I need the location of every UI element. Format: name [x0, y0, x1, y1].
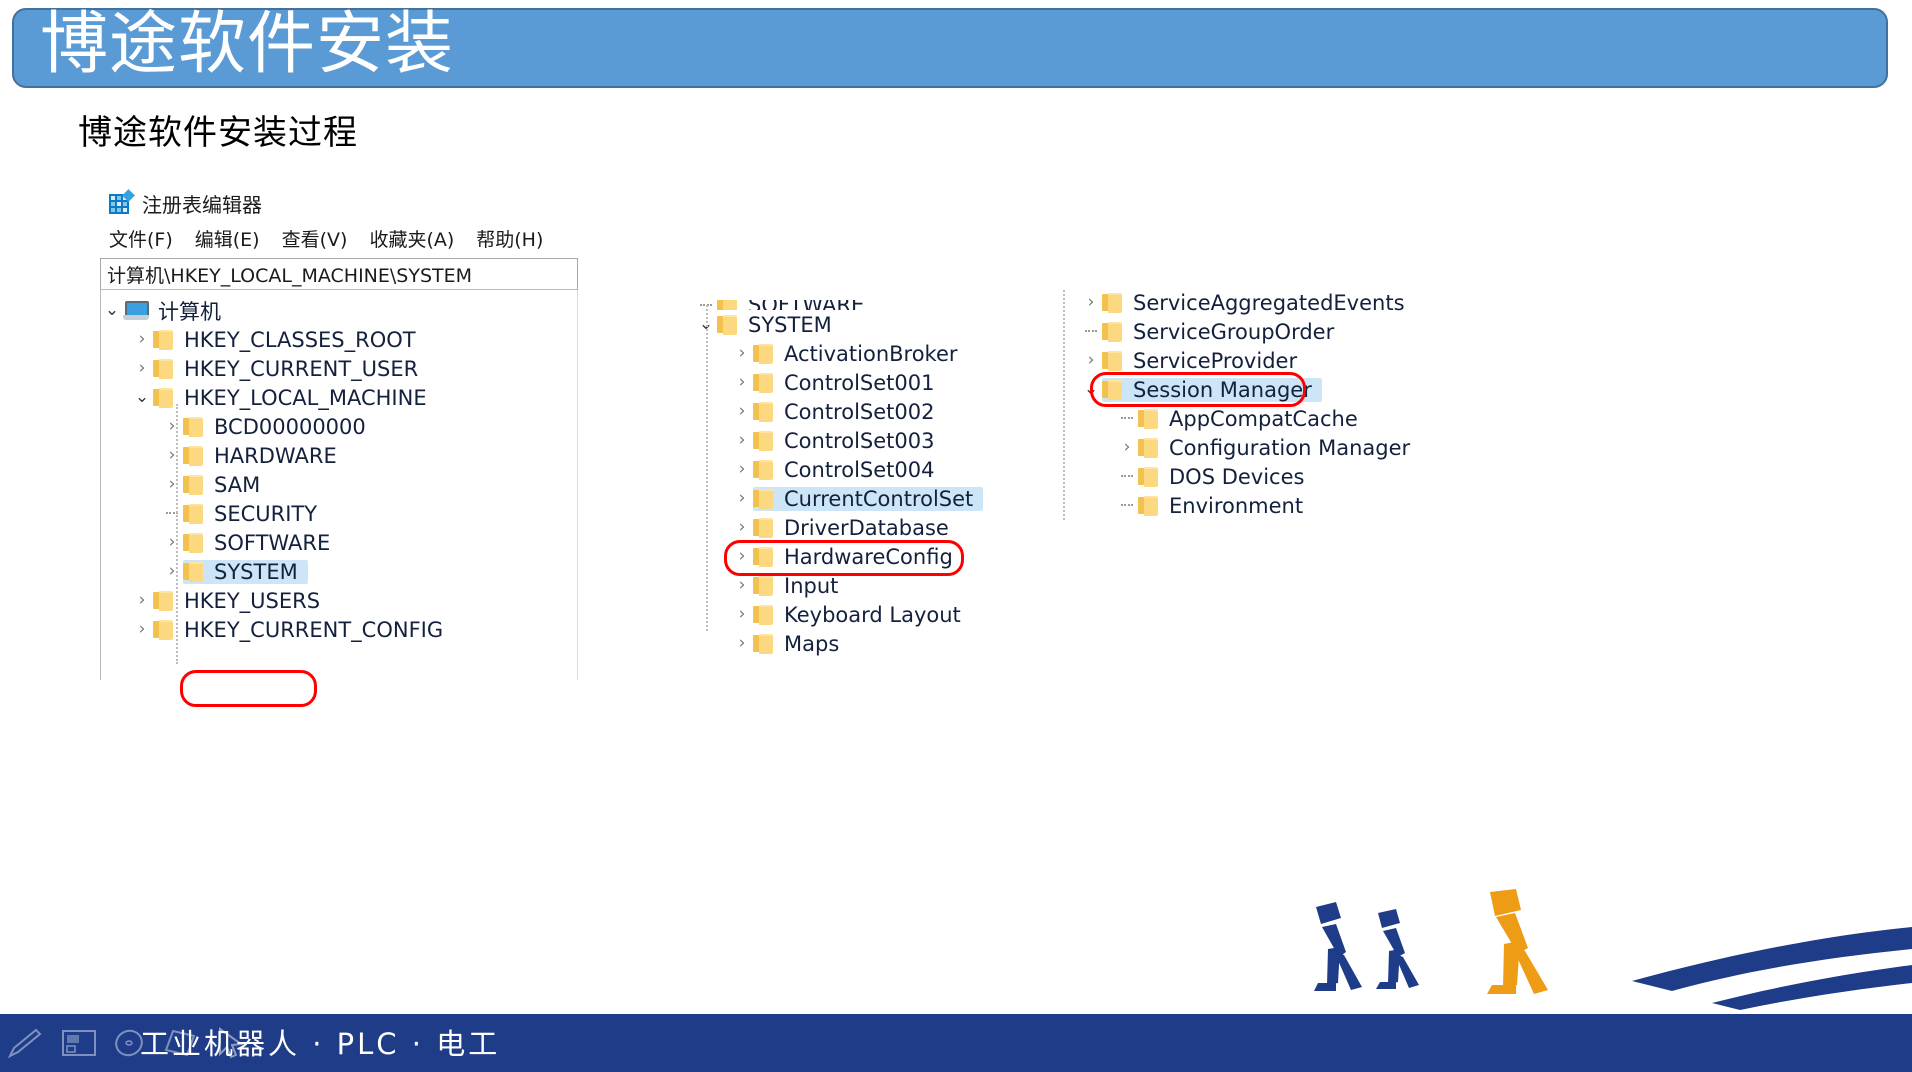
tree-item-content[interactable]: DriverDatabase — [753, 516, 949, 540]
tree-item-label: ServiceAggregatedEvents — [1133, 291, 1405, 315]
chevron-right-icon[interactable]: › — [161, 476, 183, 493]
tree-guide-line-right — [1063, 290, 1065, 520]
tree-item-label: HardwareConfig — [784, 545, 953, 569]
tree-item-label: Configuration Manager — [1169, 436, 1410, 460]
folder-icon — [1102, 351, 1124, 370]
menu-item-help[interactable]: 帮助(H) — [476, 225, 543, 252]
registry-editor-titlebar: 注册表编辑器 — [100, 186, 700, 220]
folder-icon — [1102, 293, 1124, 312]
address-bar[interactable]: 计算机\HKEY_LOCAL_MACHINE\SYSTEM — [100, 258, 578, 290]
folder-icon — [153, 591, 175, 610]
slide-root: 博途软件安装 博途软件安装过程 注册表编辑器 文件(F) 编辑(E) 查看(V)… — [0, 0, 1912, 1072]
tree-item-hkey-local-machine[interactable]: ⌄HKEY_LOCAL_MACHINE — [101, 383, 577, 412]
tree-item-content[interactable]: CurrentControlSet — [753, 487, 983, 511]
tree-item-controlset004[interactable]: ›ControlSet004 — [695, 455, 1025, 484]
tree-item-label: Keyboard Layout — [784, 603, 961, 627]
tree-item-software[interactable]: ›SOFTWARE — [101, 528, 577, 557]
tree-item-software[interactable]: SOFTWARE — [695, 300, 1025, 310]
folder-icon — [183, 504, 205, 523]
tree-item-security[interactable]: SECURITY — [101, 499, 577, 528]
tree-item-hkey-current-user[interactable]: ›HKEY_CURRENT_USER — [101, 354, 577, 383]
chevron-right-icon[interactable]: › — [731, 635, 753, 652]
tree-item-keyboard-layout[interactable]: ›Keyboard Layout — [695, 600, 1025, 629]
tree-item-bcd00000000[interactable]: ›BCD00000000 — [101, 412, 577, 441]
registry-editor-icon — [109, 191, 133, 215]
tree-item-label: Maps — [784, 632, 839, 656]
tree-item-label: Environment — [1169, 494, 1303, 518]
tree-item-session-manager[interactable]: ⌄Session Manager — [1080, 375, 1480, 404]
tree-guide-line-middle — [706, 305, 708, 631]
tree-item-content[interactable]: AppCompatCache — [1138, 407, 1358, 431]
tree-leaf-connector — [161, 512, 183, 515]
folder-icon — [753, 634, 775, 653]
chevron-right-icon[interactable]: › — [731, 548, 753, 565]
tree-item-content[interactable]: HARDWARE — [183, 444, 337, 468]
tree-item-label: CurrentControlSet — [784, 487, 973, 511]
tree-item-content[interactable]: ControlSet001 — [753, 371, 934, 395]
tree-item-hkey-users[interactable]: ›HKEY_USERS — [101, 586, 577, 615]
tree-item-hkey-current-config[interactable]: ›HKEY_CURRENT_CONFIG — [101, 615, 577, 644]
tree-item-content[interactable]: ActivationBroker — [753, 342, 958, 366]
tree-item-controlset003[interactable]: ›ControlSet003 — [695, 426, 1025, 455]
chevron-right-icon[interactable]: › — [161, 447, 183, 464]
tree-item-sam[interactable]: ›SAM — [101, 470, 577, 499]
folder-icon — [183, 562, 205, 581]
tree-item-label: DOS Devices — [1169, 465, 1304, 489]
tree-item-content[interactable]: Configuration Manager — [1138, 436, 1410, 460]
chevron-right-icon[interactable]: › — [731, 577, 753, 594]
tree-item-label: BCD00000000 — [214, 415, 366, 439]
folder-icon — [753, 576, 775, 595]
tree-item-maps[interactable]: ›Maps — [695, 629, 1025, 658]
folder-icon — [753, 344, 775, 363]
tree-item-content[interactable]: HKEY_LOCAL_MACHINE — [153, 386, 427, 410]
tree-item-label: HKEY_CURRENT_CONFIG — [184, 618, 443, 642]
chevron-right-icon[interactable]: › — [731, 403, 753, 420]
tree-item-label: ControlSet002 — [784, 400, 934, 424]
tree-item-label: SOFTWARE — [214, 531, 330, 555]
tree-item-environment[interactable]: Environment — [1080, 491, 1480, 520]
tree-item-system[interactable]: ⌄SYSTEM — [695, 310, 1025, 339]
folder-icon — [753, 518, 775, 537]
tree-item-label: ServiceProvider — [1133, 349, 1297, 373]
folder-icon — [153, 388, 175, 407]
tree-item-label: HKEY_USERS — [184, 589, 320, 613]
chevron-right-icon[interactable]: › — [731, 461, 753, 478]
chevron-right-icon[interactable]: › — [1080, 294, 1102, 311]
tree-item-content[interactable]: HKEY_CLASSES_ROOT — [153, 328, 416, 352]
tree-item-content[interactable]: SOFTWARE — [183, 531, 330, 555]
tree-item-content[interactable]: HKEY_USERS — [153, 589, 320, 613]
chevron-right-icon[interactable]: › — [731, 374, 753, 391]
folder-icon — [753, 489, 775, 508]
tree-item-serviceaggregatedevents[interactable]: ›ServiceAggregatedEvents — [1080, 288, 1480, 317]
tree-item-content[interactable]: ControlSet004 — [753, 458, 934, 482]
folder-icon — [717, 315, 739, 334]
folder-icon — [1138, 409, 1160, 428]
tree-item-content[interactable]: BCD00000000 — [183, 415, 366, 439]
window-title: 注册表编辑器 — [142, 189, 262, 218]
tree-leaf-connector — [1116, 504, 1138, 507]
tree-item-content[interactable]: SYSTEM — [183, 560, 308, 584]
screen-icon[interactable] — [60, 1027, 98, 1059]
tree-item--[interactable]: ⌄计算机 — [101, 296, 577, 325]
chevron-right-icon[interactable]: › — [161, 534, 183, 551]
tree-item-dos-devices[interactable]: DOS Devices — [1080, 462, 1480, 491]
chevron-down-icon[interactable]: ⌄ — [101, 302, 123, 319]
folder-icon — [1102, 380, 1124, 399]
tree-item-currentcontrolset[interactable]: ›CurrentControlSet — [695, 484, 1025, 513]
tree-item-hkey-classes-root[interactable]: ›HKEY_CLASSES_ROOT — [101, 325, 577, 354]
folder-icon — [753, 460, 775, 479]
tree-item-driverdatabase[interactable]: ›DriverDatabase — [695, 513, 1025, 542]
tree-item-label: ActivationBroker — [784, 342, 958, 366]
tree-item-label: ControlSet001 — [784, 371, 934, 395]
tree-item-controlset002[interactable]: ›ControlSet002 — [695, 397, 1025, 426]
tree-item-content[interactable]: ServiceAggregatedEvents — [1102, 291, 1405, 315]
tree-item-input[interactable]: ›Input — [695, 571, 1025, 600]
tree-item-label: SYSTEM — [748, 313, 832, 337]
menu-item-view[interactable]: 查看(V) — [282, 225, 348, 252]
tree-item-label: SOFTWARE — [748, 300, 864, 310]
menu-bar: 文件(F) 编辑(E) 查看(V) 收藏夹(A) 帮助(H) — [100, 220, 700, 258]
chevron-right-icon[interactable]: › — [131, 621, 153, 638]
folder-icon — [1102, 322, 1124, 341]
tree-item-activationbroker[interactable]: ›ActivationBroker — [695, 339, 1025, 368]
chevron-right-icon[interactable]: › — [731, 432, 753, 449]
tree-item-content[interactable]: SYSTEM — [717, 313, 832, 337]
tree-item-label: HKEY_CLASSES_ROOT — [184, 328, 416, 352]
tree-item-content[interactable]: HKEY_CURRENT_USER — [153, 357, 418, 381]
folder-icon — [753, 402, 775, 421]
folder-icon — [753, 605, 775, 624]
footer-curve-decoration — [0, 974, 1912, 1014]
tree-item-controlset001[interactable]: ›ControlSet001 — [695, 368, 1025, 397]
tree-item-content[interactable]: Maps — [753, 632, 839, 656]
tree-item-label: ServiceGroupOrder — [1133, 320, 1334, 344]
slide-title-banner: 博途软件安装 — [12, 8, 1888, 88]
tree-item-content[interactable]: HKEY_CURRENT_CONFIG — [153, 618, 443, 642]
tree-item-content[interactable]: Environment — [1138, 494, 1303, 518]
tree-guide-line-left — [176, 404, 178, 664]
tree-item-content[interactable]: Session Manager — [1102, 378, 1322, 402]
tree-item-hardwareconfig[interactable]: ›HardwareConfig — [695, 542, 1025, 571]
tree-item-label: HARDWARE — [214, 444, 337, 468]
tree-item-content[interactable]: SECURITY — [183, 502, 317, 526]
chevron-down-icon[interactable]: ⌄ — [1080, 381, 1102, 398]
chevron-right-icon[interactable]: › — [731, 606, 753, 623]
tree-item-hardware[interactable]: ›HARDWARE — [101, 441, 577, 470]
folder-icon — [717, 300, 739, 310]
tree-item-content[interactable]: 计算机 — [123, 296, 221, 326]
chevron-right-icon[interactable]: › — [1080, 352, 1102, 369]
folder-icon — [1138, 438, 1160, 457]
folder-icon — [753, 547, 775, 566]
tree-item-label: 计算机 — [158, 296, 221, 326]
tree-item-label: ControlSet004 — [784, 458, 934, 482]
folder-icon — [183, 446, 205, 465]
computer-icon — [123, 301, 149, 321]
tree-item-label: HKEY_LOCAL_MACHINE — [184, 386, 427, 410]
chevron-right-icon[interactable]: › — [131, 360, 153, 377]
tree-item-label: Session Manager — [1133, 378, 1312, 402]
tree-item-label: HKEY_CURRENT_USER — [184, 357, 418, 381]
folder-icon — [153, 620, 175, 639]
chevron-down-icon[interactable]: ⌄ — [131, 389, 153, 406]
folder-icon — [1138, 496, 1160, 515]
page-title: 博途软件安装 — [14, 11, 454, 79]
tree-item-content[interactable]: SOFTWARE — [717, 300, 864, 310]
tree-leaf-connector — [1116, 475, 1138, 478]
tree-item-label: Input — [784, 574, 838, 598]
chevron-right-icon[interactable]: › — [1116, 439, 1138, 456]
tree-item-content[interactable]: ControlSet003 — [753, 429, 934, 453]
folder-icon — [753, 431, 775, 450]
folder-icon — [153, 359, 175, 378]
chevron-right-icon[interactable]: › — [131, 331, 153, 348]
tree-item-content[interactable]: ServiceProvider — [1102, 349, 1297, 373]
tree-item-content[interactable]: DOS Devices — [1138, 465, 1304, 489]
chevron-right-icon[interactable]: › — [131, 592, 153, 609]
tree-item-system[interactable]: ›SYSTEM — [101, 557, 577, 586]
pen-icon[interactable] — [4, 1026, 48, 1060]
tree-item-content[interactable]: SAM — [183, 473, 260, 497]
slide-subtitle: 博途软件安装过程 — [78, 105, 358, 154]
registry-tree-left[interactable]: ⌄计算机›HKEY_CLASSES_ROOT›HKEY_CURRENT_USER… — [100, 290, 578, 680]
tree-item-content[interactable]: ServiceGroupOrder — [1102, 320, 1334, 344]
chevron-right-icon[interactable]: › — [731, 519, 753, 536]
tree-item-servicegrouporder[interactable]: ServiceGroupOrder — [1080, 317, 1480, 346]
chevron-right-icon[interactable]: › — [731, 490, 753, 507]
tree-item-label: SECURITY — [214, 502, 317, 526]
tree-item-serviceprovider[interactable]: ›ServiceProvider — [1080, 346, 1480, 375]
tree-leaf-connector — [1080, 330, 1102, 333]
tree-item-label: DriverDatabase — [784, 516, 949, 540]
registry-editor-window: 注册表编辑器 文件(F) 编辑(E) 查看(V) 收藏夹(A) 帮助(H) 计算… — [100, 186, 700, 680]
tree-item-label: SAM — [214, 473, 260, 497]
folder-icon — [153, 330, 175, 349]
folder-icon — [183, 533, 205, 552]
tree-leaf-connector — [1116, 417, 1138, 420]
registry-tree-middle[interactable]: SOFTWARE⌄SYSTEM›ActivationBroker›Control… — [695, 300, 1025, 658]
folder-icon — [1138, 467, 1160, 486]
folder-icon — [753, 373, 775, 392]
tree-item-content[interactable]: Input — [753, 574, 838, 598]
menu-item-favorites[interactable]: 收藏夹(A) — [369, 225, 454, 252]
tree-item-label: SYSTEM — [214, 560, 298, 584]
footer-text: 工业机器人 · PLC · 电工 — [140, 1021, 500, 1063]
chevron-right-icon[interactable]: › — [161, 418, 183, 435]
tree-item-content[interactable]: HardwareConfig — [753, 545, 953, 569]
menu-item-file[interactable]: 文件(F) — [109, 225, 173, 252]
tree-item-content[interactable]: Keyboard Layout — [753, 603, 961, 627]
tree-item-appcompatcache[interactable]: AppCompatCache — [1080, 404, 1480, 433]
folder-icon — [183, 475, 205, 494]
chevron-right-icon[interactable]: › — [161, 563, 183, 580]
tree-item-label: AppCompatCache — [1169, 407, 1358, 431]
tree-item-content[interactable]: ControlSet002 — [753, 400, 934, 424]
chevron-right-icon[interactable]: › — [731, 345, 753, 362]
folder-icon — [183, 417, 205, 436]
registry-tree-right[interactable]: ›ServiceAggregatedEventsServiceGroupOrde… — [1080, 288, 1480, 520]
tree-item-configuration-manager[interactable]: ›Configuration Manager — [1080, 433, 1480, 462]
tree-item-label: ControlSet003 — [784, 429, 934, 453]
menu-item-edit[interactable]: 编辑(E) — [195, 225, 260, 252]
